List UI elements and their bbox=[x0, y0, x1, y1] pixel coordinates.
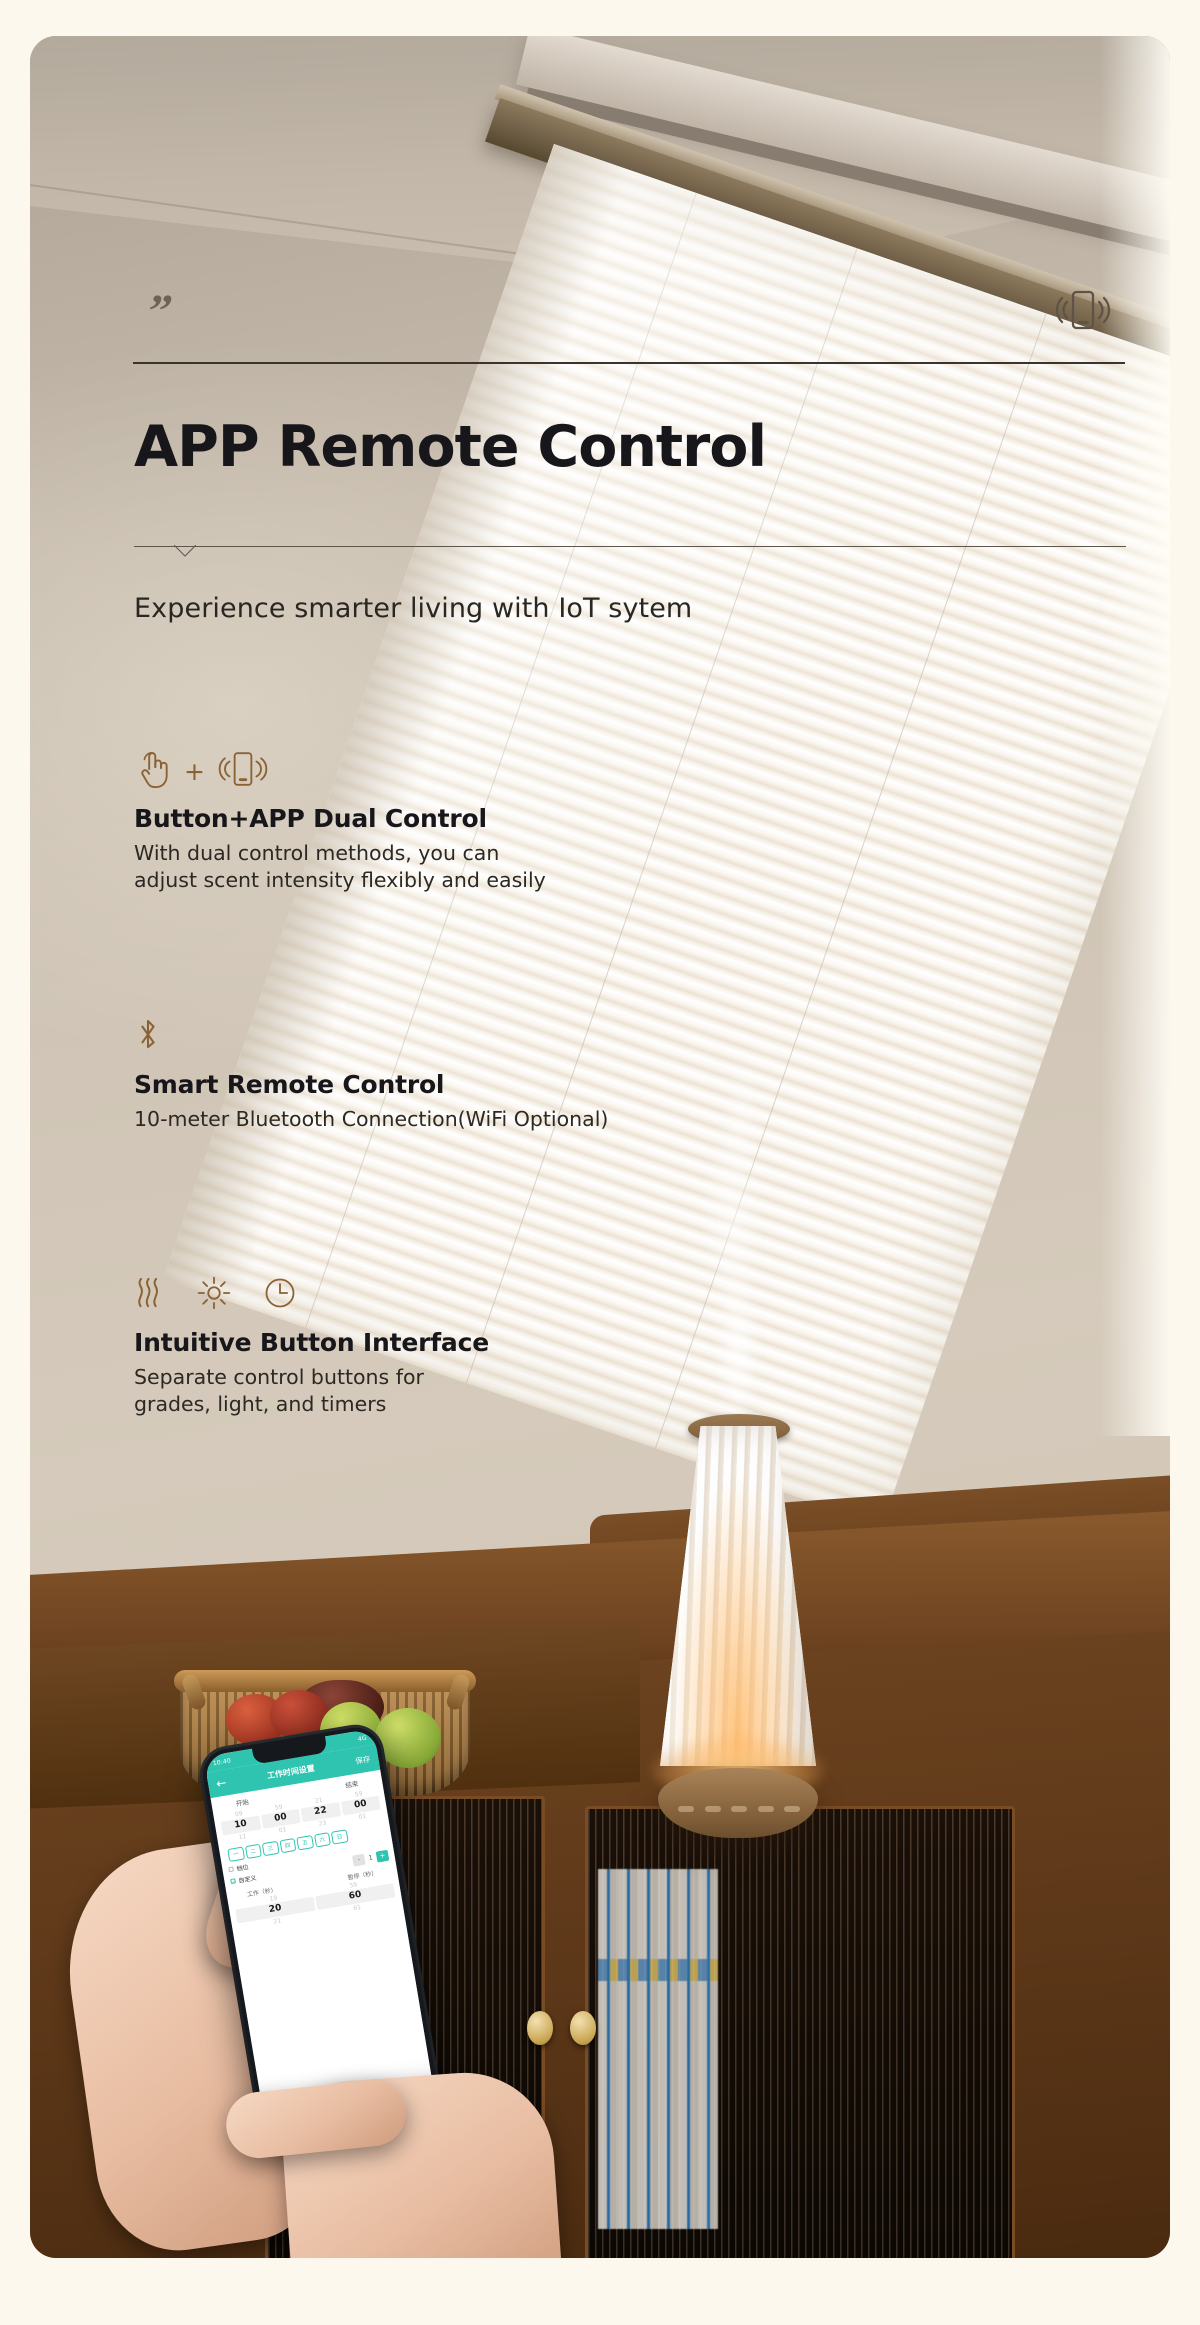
feature-1-desc-line2: adjust scent intensity flexibly and easi… bbox=[134, 867, 546, 894]
cabinet-door-right bbox=[585, 1806, 1015, 2258]
tap-hand-icon bbox=[134, 748, 172, 794]
feature-3-desc-line2: grades, light, and timers bbox=[134, 1391, 489, 1418]
grade-label: 档位 bbox=[236, 1862, 249, 1873]
diffuser-button-timer[interactable] bbox=[758, 1806, 774, 1812]
app-title: 工作时间设置 bbox=[266, 1762, 315, 1781]
status-network: 4G bbox=[357, 1734, 367, 1742]
weekday-chip-sat[interactable]: 六 bbox=[314, 1832, 331, 1847]
bluetooth-icon bbox=[134, 1014, 162, 1060]
diffuser-control-buttons[interactable] bbox=[678, 1804, 800, 1814]
feature-3-icons bbox=[134, 1274, 489, 1316]
weekday-chip-thu[interactable]: 四 bbox=[279, 1837, 296, 1852]
weekday-chip-tue[interactable]: 二 bbox=[244, 1843, 261, 1858]
divider-middle bbox=[134, 546, 1126, 568]
grade-checkbox[interactable] bbox=[228, 1866, 234, 1872]
cabinet-knob-left bbox=[527, 2011, 553, 2045]
feature-button-interface: Intuitive Button Interface Separate cont… bbox=[134, 1274, 489, 1418]
clock-timer-icon bbox=[262, 1275, 298, 1315]
feature-2-title: Smart Remote Control bbox=[134, 1070, 608, 1099]
custom-label: 自定义 bbox=[238, 1872, 257, 1884]
stepper-plus-button[interactable]: + bbox=[376, 1849, 390, 1862]
diffuser-button-light[interactable] bbox=[705, 1806, 721, 1812]
plus-symbol: + bbox=[184, 759, 205, 784]
end-hour-picker[interactable]: 21 22 23 bbox=[299, 1793, 342, 1831]
feature-dual-control: + Button+APP Dual Control With dual cont… bbox=[134, 750, 546, 894]
sun-brightness-icon bbox=[196, 1275, 232, 1315]
feature-smart-remote: Smart Remote Control 10-meter Bluetooth … bbox=[134, 1016, 608, 1133]
status-time: 10:40 bbox=[212, 1757, 231, 1767]
page-title: APP Remote Control bbox=[134, 418, 766, 478]
fruit-green-apple-2 bbox=[375, 1708, 441, 1768]
feature-1-desc-line1: With dual control methods, you can bbox=[134, 840, 546, 867]
save-button[interactable]: 保存 bbox=[354, 1753, 371, 1766]
divider-top bbox=[133, 362, 1125, 364]
stepper-value: 1 bbox=[368, 1854, 373, 1862]
mist-waves-icon bbox=[134, 1274, 166, 1316]
feature-2-desc-line1: 10-meter Bluetooth Connection(WiFi Optio… bbox=[134, 1106, 608, 1133]
diffuser-button-power[interactable] bbox=[731, 1806, 747, 1812]
end-label: 结束 bbox=[344, 1778, 358, 1790]
hero-photo-card: 10:40 4G ← 工作时间设置 保存 开始 结束 09 bbox=[30, 36, 1170, 2258]
feature-1-title: Button+APP Dual Control bbox=[134, 804, 546, 833]
start-hour-picker[interactable]: 09 10 11 bbox=[219, 1807, 262, 1845]
custom-checkbox[interactable]: ✓ bbox=[230, 1878, 236, 1884]
stepper-minus-button[interactable]: - bbox=[352, 1853, 366, 1866]
product-feature-page: 10:40 4G ← 工作时间设置 保存 开始 结束 09 bbox=[0, 0, 1200, 2325]
window-light-bloom bbox=[1100, 36, 1170, 1436]
chevron-down-icon bbox=[174, 545, 196, 557]
end-minute-picker[interactable]: 59 00 01 bbox=[339, 1787, 382, 1825]
weekday-chip-fri[interactable]: 五 bbox=[296, 1835, 313, 1850]
diffuser-button-mode[interactable] bbox=[784, 1806, 800, 1812]
feature-1-icons: + bbox=[134, 750, 546, 792]
back-arrow-icon[interactable]: ← bbox=[215, 1777, 227, 1790]
weekday-chip-wed[interactable]: 三 bbox=[262, 1840, 279, 1855]
feature-3-desc-line1: Separate control buttons for bbox=[134, 1364, 489, 1391]
feature-2-icons bbox=[134, 1016, 608, 1058]
page-subtitle: Experience smarter living with IoT sytem bbox=[134, 593, 692, 624]
start-minute-picker[interactable]: 59 00 01 bbox=[259, 1800, 302, 1838]
diffuser-button-mist[interactable] bbox=[678, 1806, 694, 1812]
cabinet-knob-right bbox=[570, 2011, 596, 2045]
phone-signal-icon bbox=[1050, 284, 1116, 338]
weekday-chip-sun[interactable]: 日 bbox=[331, 1829, 348, 1844]
books-on-shelf bbox=[598, 1869, 718, 2229]
start-label: 开始 bbox=[235, 1796, 249, 1808]
feature-3-title: Intuitive Button Interface bbox=[134, 1328, 489, 1357]
phone-signal-icon bbox=[217, 748, 269, 794]
weekday-chip-mon[interactable]: 一 bbox=[227, 1846, 244, 1861]
